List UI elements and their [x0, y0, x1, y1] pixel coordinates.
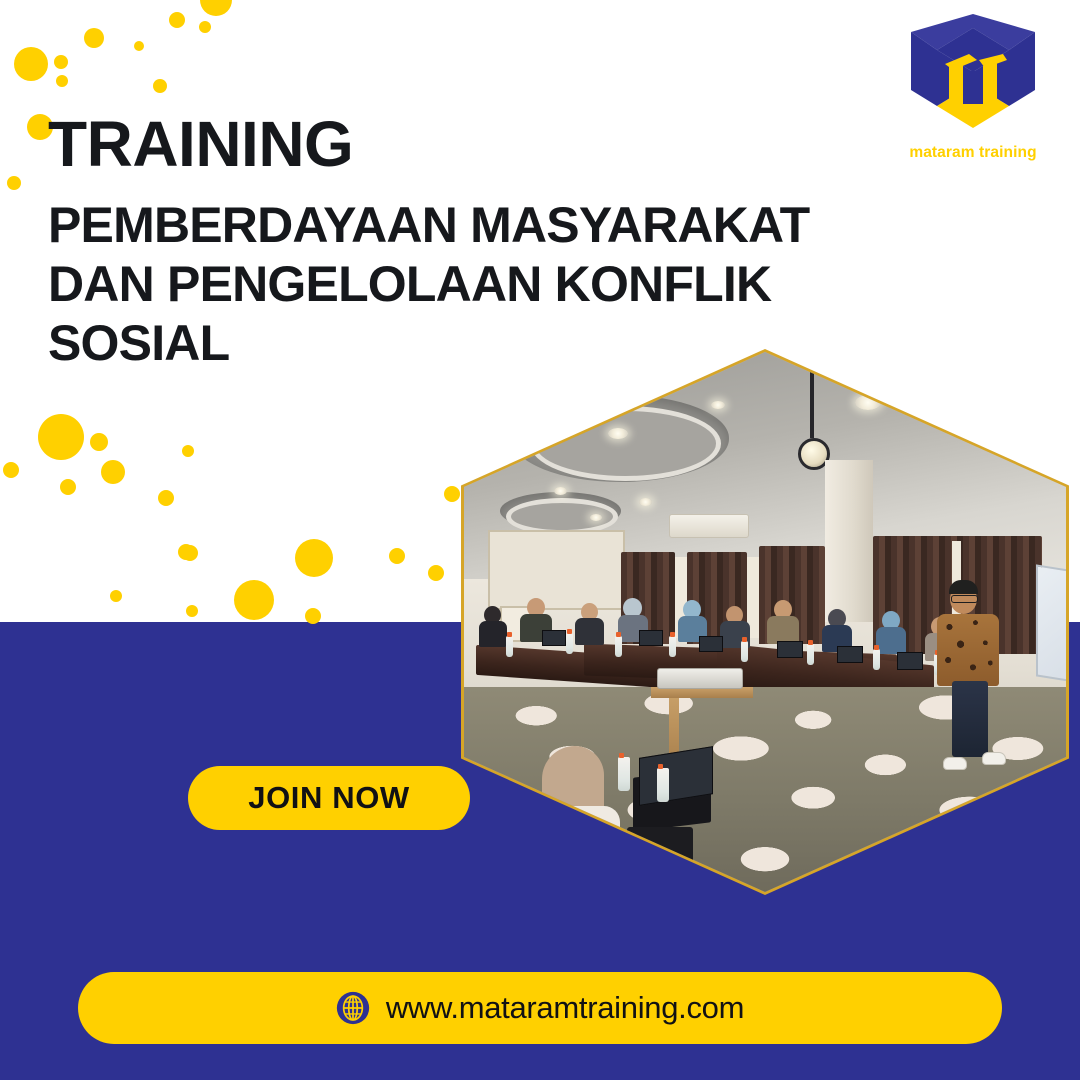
confetti-dot: [199, 21, 211, 33]
downlight-1: [608, 428, 628, 439]
whiteboard: [1036, 564, 1066, 683]
participant-laptop-5: [837, 646, 863, 663]
confetti-dot: [134, 41, 144, 51]
water-bottle-7: [873, 649, 880, 670]
water-bottle-2: [566, 633, 573, 654]
page-title: PEMBERDAYAAN MASYARAKAT DAN PENGELOLAAN …: [48, 196, 948, 373]
confetti-dot: [101, 460, 125, 484]
eyebrow-title: TRAINING: [48, 112, 353, 176]
confetti-dot: [60, 479, 76, 495]
poster-canvas: mataram training TRAINING PEMBERDAYAAN M…: [0, 0, 1080, 1080]
confetti-dot: [169, 12, 185, 28]
confetti-dot: [7, 176, 21, 190]
confetti-dot: [389, 548, 405, 564]
air-conditioner: [669, 514, 749, 538]
participant-laptop-1: [542, 630, 566, 646]
confetti-dot: [56, 75, 68, 87]
water-bottle-1: [506, 636, 513, 657]
confetti-dot: [110, 590, 122, 602]
globe-icon: [336, 991, 370, 1025]
confetti-dot: [428, 565, 444, 581]
join-now-button[interactable]: JOIN NOW: [188, 766, 470, 830]
presenter-shoe-left: [943, 757, 967, 770]
pendant-rod: [810, 363, 814, 439]
wall-panel: [488, 530, 624, 610]
confetti-dot: [14, 47, 48, 81]
water-bottle-6: [807, 644, 814, 665]
water-bottle-5: [741, 641, 748, 662]
confetti-dot: [54, 55, 68, 69]
projector: [657, 668, 743, 689]
participant-laptop-6: [897, 652, 923, 670]
confetti-dot: [305, 608, 321, 624]
confetti-dot: [234, 580, 274, 620]
logo-wordmark: mataram training: [898, 144, 1048, 162]
foreground-bottle-1: [618, 757, 630, 791]
brand-logo: mataram training: [898, 14, 1048, 162]
confetti-dot: [90, 433, 108, 451]
participant-laptop-2: [639, 630, 663, 646]
confetti-dot: [295, 539, 333, 577]
page-title-line-2: DAN PENGELOLAAN KONFLIK: [48, 255, 948, 314]
page-title-line-1: PEMBERDAYAAN MASYARAKAT: [48, 196, 948, 255]
presenter-shoe-right: [982, 752, 1006, 765]
confetti-dot: [444, 486, 460, 502]
confetti-dot: [186, 605, 198, 617]
confetti-dot: [153, 79, 167, 93]
confetti-dot: [3, 462, 19, 478]
participant-laptop-3: [699, 636, 723, 652]
participant-laptop-4: [777, 641, 803, 658]
downlight-5: [711, 401, 725, 409]
water-bottle-3: [615, 636, 622, 657]
confetti-dot: [158, 490, 174, 506]
mataram-m-monogram-icon: [907, 14, 1039, 128]
confetti-dot: [182, 445, 194, 457]
water-bottle-4: [669, 636, 676, 657]
confetti-dot: [38, 414, 84, 460]
website-footer-bar[interactable]: www.mataramtraining.com: [78, 972, 1002, 1044]
page-title-line-3: SOSIAL: [48, 314, 948, 373]
foreground-bottle-2: [657, 768, 669, 802]
presenter-hair: [949, 580, 978, 594]
confetti-dot: [182, 545, 198, 561]
website-url: www.mataramtraining.com: [386, 990, 744, 1026]
confetti-dot: [84, 28, 104, 48]
presenter-batik-shirt: [937, 614, 999, 686]
presenter-glasses: [951, 595, 978, 603]
presenter-trousers: [952, 681, 988, 757]
downlight-4: [639, 498, 652, 506]
